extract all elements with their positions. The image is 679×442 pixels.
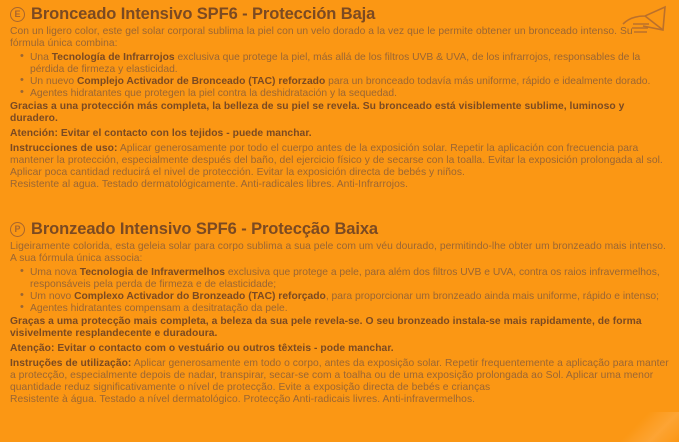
list-item: Una Tecnología de Infrarrojos exclusiva … bbox=[10, 52, 669, 76]
section-title-spanish: Bronceado Intensivo SPF6 - Protección Ba… bbox=[31, 5, 375, 24]
bullet-pre: Un nuevo bbox=[30, 76, 77, 87]
bullet-pre: Um novo bbox=[30, 291, 74, 302]
warning-paragraph-spanish: Atención: Evitar el contacto con los tej… bbox=[10, 128, 669, 140]
list-item: Um novo Complexo Activador do Bronzeado … bbox=[10, 291, 669, 303]
list-item: Uma nova Tecnologia de Infravermelhos ex… bbox=[10, 267, 669, 291]
list-item: Agentes hidratantes que protegen la piel… bbox=[10, 88, 669, 100]
instructions-paragraph-spanish: Instrucciones de uso: Aplicar generosame… bbox=[10, 143, 669, 179]
instructions-label-portuguese: Instruções de utilização: bbox=[10, 358, 131, 369]
intro-paragraph-portuguese: Ligeiramente colorida, esta geleia solar… bbox=[10, 241, 669, 265]
bullet-post: para un bronceado todavía más uniforme, … bbox=[325, 76, 650, 87]
claim-paragraph-portuguese: Graças a uma protecção mais completa, a … bbox=[10, 316, 669, 340]
footer-paragraph-portuguese: Resistente à água. Testado a nível derma… bbox=[10, 394, 669, 406]
list-item: Agentes hidratantes compensam a desitrat… bbox=[10, 303, 669, 315]
bullet-pre: Uma nova bbox=[30, 267, 80, 278]
warning-paragraph-portuguese: Atenção: Evitar o contacto com o vestuár… bbox=[10, 343, 669, 355]
list-item: Un nuevo Complejo Activador de Bronceado… bbox=[10, 76, 669, 88]
bullet-bold: Complexo Activador do Bronzeado (TAC) re… bbox=[74, 291, 326, 302]
language-badge-es: E bbox=[10, 7, 25, 22]
instructions-paragraph-portuguese: Instruções de utilização: Aplicar genero… bbox=[10, 358, 669, 394]
claim-paragraph-spanish: Gracias a una protección más completa, l… bbox=[10, 101, 669, 125]
bullet-bold: Complejo Activador de Bronceado (TAC) re… bbox=[77, 76, 325, 87]
bullet-post: , para proporcionar um bronzeado ainda m… bbox=[326, 291, 659, 302]
benefit-list-portuguese: Uma nova Tecnologia de Infravermelhos ex… bbox=[10, 267, 669, 315]
section-spanish: E Bronceado Intensivo SPF6 - Protección … bbox=[0, 5, 679, 191]
bullet-pre: Agentes hidratantes compensam a desitrat… bbox=[30, 303, 288, 314]
bullet-bold: Tecnologia de Infravermelhos bbox=[80, 267, 225, 278]
heading-row-portuguese: P Bronzeado Intensivo SPF6 - Protecção B… bbox=[10, 220, 669, 239]
bullet-pre: Agentes hidratantes que protegen la piel… bbox=[30, 88, 397, 99]
bullet-bold: Tecnología de Infrarrojos bbox=[52, 52, 175, 63]
footer-paragraph-spanish: Resistente al agua. Testado dermatológic… bbox=[10, 179, 669, 191]
product-label: E Bronceado Intensivo SPF6 - Protección … bbox=[0, 0, 679, 442]
section-portuguese: P Bronzeado Intensivo SPF6 - Protecção B… bbox=[0, 220, 679, 406]
heading-row-spanish: E Bronceado Intensivo SPF6 - Protección … bbox=[10, 5, 669, 24]
bullet-pre: Una bbox=[30, 52, 52, 63]
language-badge-pt: P bbox=[10, 222, 25, 237]
instructions-label-spanish: Instrucciones de uso: bbox=[10, 143, 117, 154]
corner-gloss-decoration bbox=[609, 412, 679, 442]
benefit-list-spanish: Una Tecnología de Infrarrojos exclusiva … bbox=[10, 52, 669, 100]
intro-paragraph-spanish: Con un ligero color, este gel solar corp… bbox=[10, 26, 669, 50]
section-title-portuguese: Bronzeado Intensivo SPF6 - Protecção Bai… bbox=[31, 220, 378, 239]
